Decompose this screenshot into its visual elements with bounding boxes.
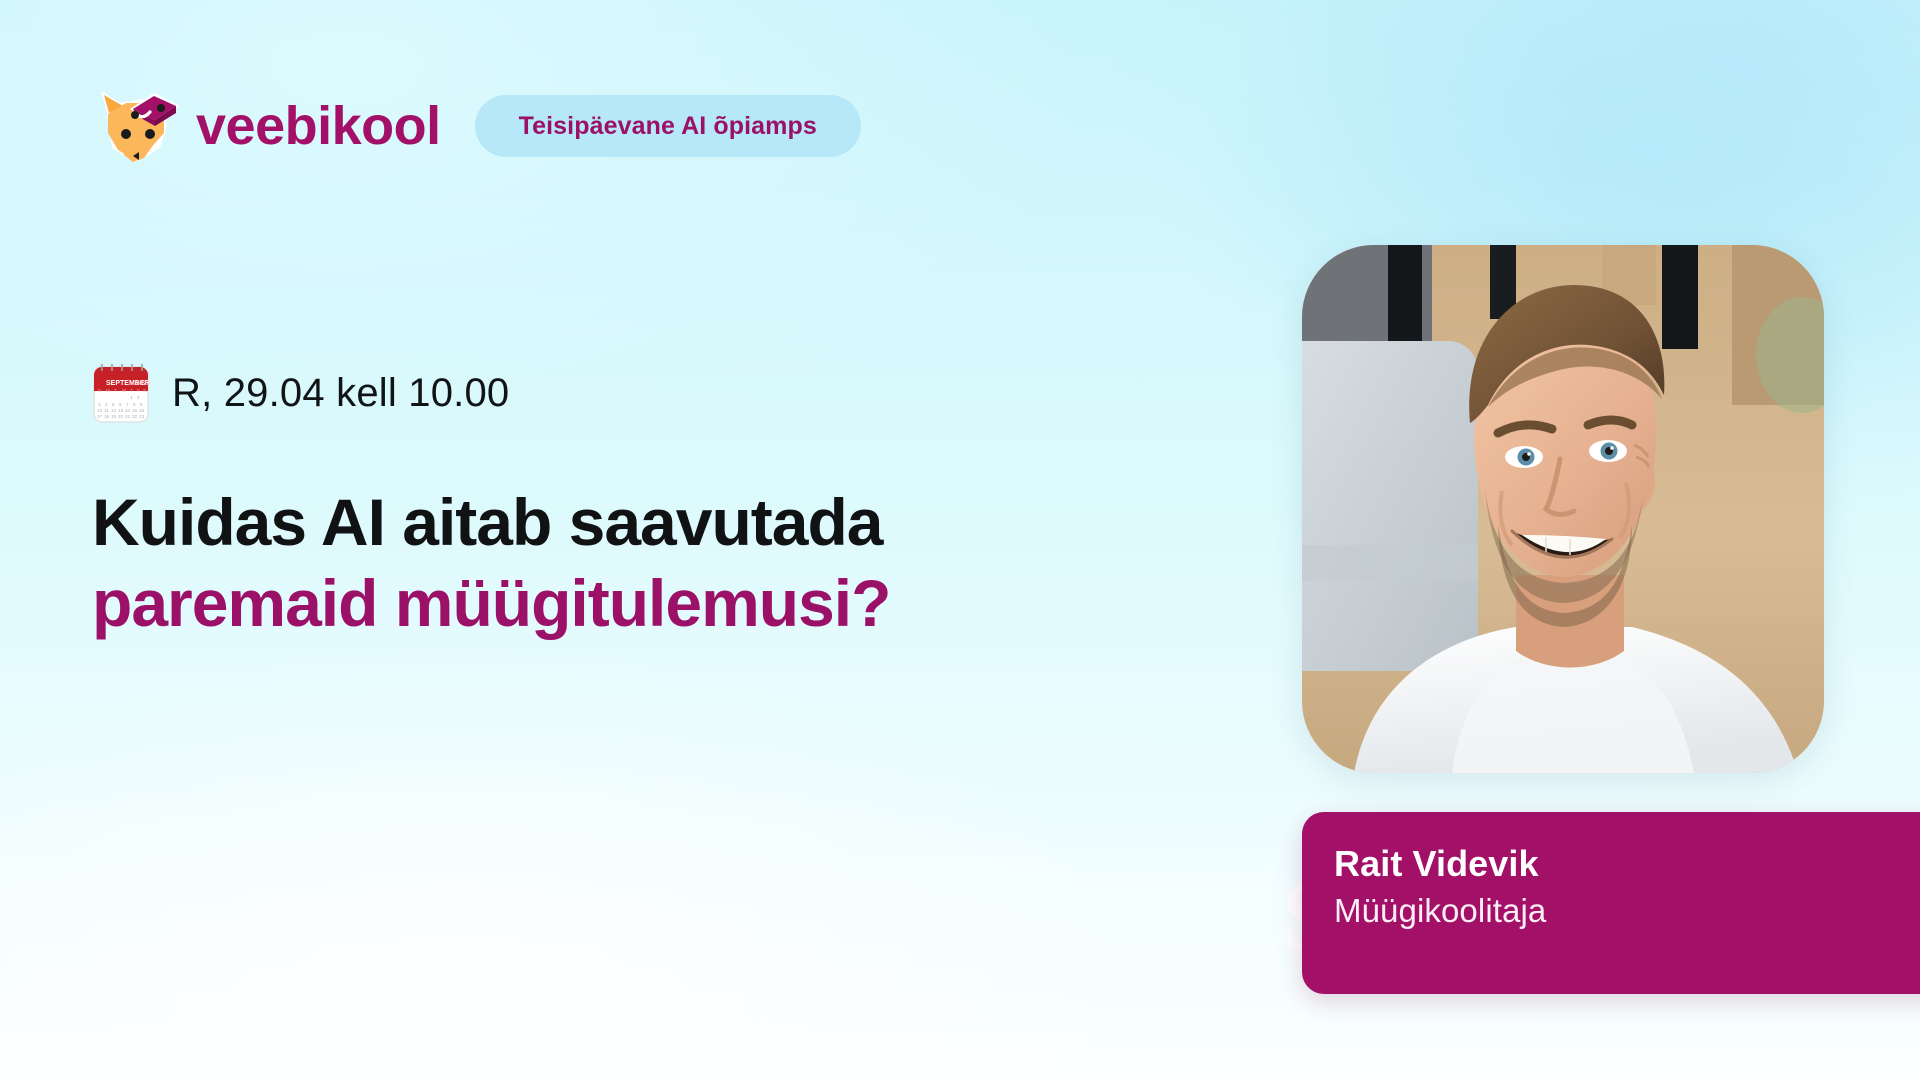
svg-text:8: 8 [133,402,136,407]
svg-text:10: 10 [97,408,103,413]
svg-text:21: 21 [125,414,131,419]
speaker-photo [1302,245,1824,773]
svg-text:3: 3 [98,402,101,407]
calendar-icon: SEPTEMBER 2023 SMT WTFS 12 3456789 10111… [92,362,150,424]
speaker-name-card: Rait Videvik Müügikoolitaja [1302,812,1920,994]
page-title: Kuidas AI aitab saavutada paremaid müügi… [92,482,1252,643]
svg-text:12: 12 [111,408,117,413]
svg-text:13: 13 [118,408,124,413]
svg-text:14: 14 [125,408,131,413]
svg-text:S: S [98,388,101,393]
svg-text:6: 6 [119,402,122,407]
svg-text:2023: 2023 [136,380,150,387]
speaker-role: Müügikoolitaja [1334,890,1920,933]
brand-header: veebikool Teisipäevane AI õpiamps [92,86,861,166]
svg-text:2: 2 [137,395,140,400]
fox-graduate-logo-icon [92,86,180,166]
headline-line-1: Kuidas AI aitab saavutada [92,482,1252,563]
background-glow-bottom-left [0,641,1160,1081]
svg-text:1: 1 [130,395,133,400]
headline-line-2: paremaid müügitulemusi? [92,563,1252,644]
svg-text:S: S [143,388,146,393]
svg-text:7: 7 [126,402,129,407]
svg-text:11: 11 [104,408,109,413]
svg-text:20: 20 [118,414,124,419]
brand-lockup[interactable]: veebikool [92,86,441,166]
svg-text:17: 17 [97,414,103,419]
content-column: SEPTEMBER 2023 SMT WTFS 12 3456789 10111… [92,362,1252,643]
speaker-name: Rait Videvik [1334,842,1920,886]
svg-text:T: T [114,388,117,393]
event-date-text: R, 29.04 kell 10.00 [172,371,509,416]
svg-text:M: M [106,388,110,393]
series-badge: Teisipäevane AI õpiamps [475,95,861,157]
event-date-row: SEPTEMBER 2023 SMT WTFS 12 3456789 10111… [92,362,1252,424]
svg-text:W: W [122,388,127,393]
brand-wordmark: veebikool [196,99,441,153]
svg-text:22: 22 [132,414,138,419]
svg-text:4: 4 [105,402,108,407]
svg-text:15: 15 [132,408,138,413]
svg-text:18: 18 [104,414,110,419]
svg-text:T: T [130,388,133,393]
svg-text:F: F [137,388,140,393]
svg-text:23: 23 [139,414,145,419]
svg-text:19: 19 [111,414,117,419]
svg-text:5: 5 [112,402,115,407]
promo-poster: veebikool Teisipäevane AI õpiamps SEPTEM… [0,0,1920,1081]
svg-text:16: 16 [139,408,145,413]
svg-text:9: 9 [140,402,143,407]
